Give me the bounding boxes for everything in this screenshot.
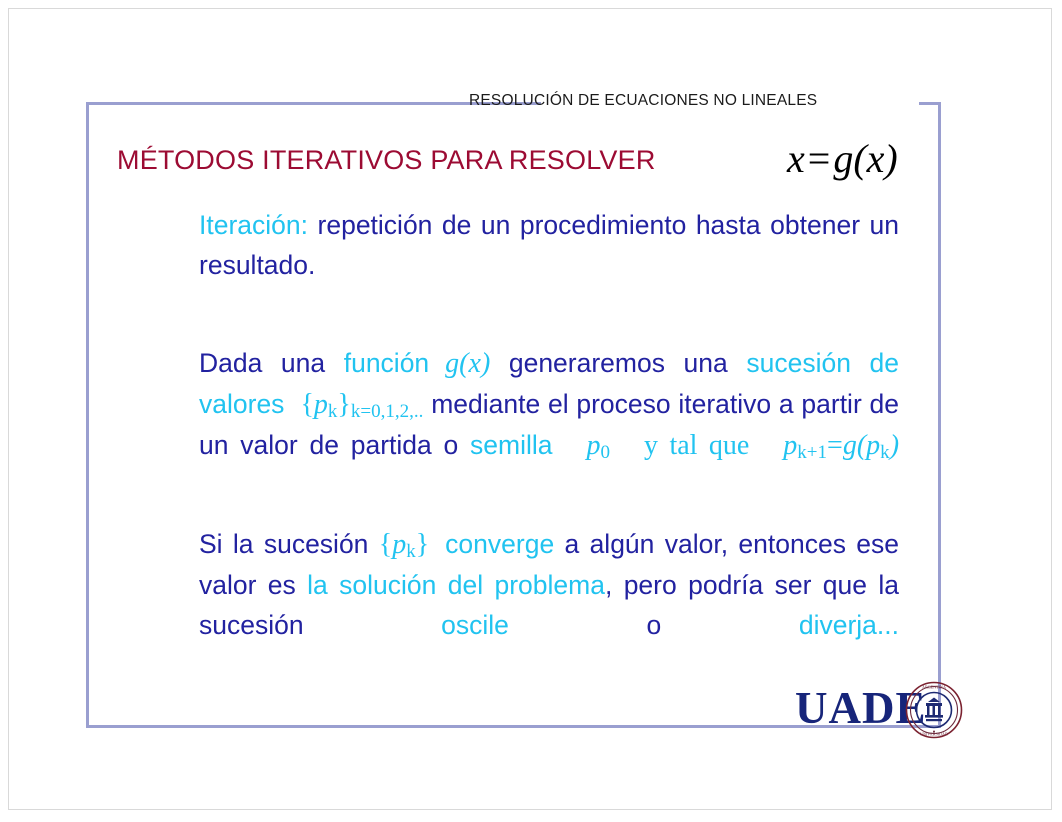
- math-p-zero: p0: [587, 430, 611, 461]
- equation-paren-open: (: [853, 136, 866, 181]
- math-paren-open: (: [459, 348, 468, 379]
- uade-seal-icon: ARGENTINA UNIVERSIDAD: [905, 681, 963, 739]
- math-p: p: [587, 430, 601, 461]
- math-p: p: [314, 389, 328, 420]
- uade-logo: UADE ARGENTINA UNIVERSIDAD: [795, 681, 965, 743]
- title-equation: x=g(x): [787, 135, 898, 182]
- equation-paren-close: ): [884, 136, 897, 181]
- sucesion-lead: Dada una: [199, 348, 344, 378]
- body-content: Iteración: repetición de un procedimient…: [199, 205, 899, 685]
- term-funcion: función: [344, 348, 429, 378]
- math-p: p: [392, 529, 406, 560]
- math-g: g: [843, 430, 857, 461]
- slide-header: RESOLUCIÓN DE ECUACIONES NO LINEALES: [469, 92, 914, 110]
- term-solucion-del-problema: la solución del problema: [307, 570, 605, 600]
- term-diverja: diverja...: [799, 610, 899, 640]
- math-brace-close: }: [416, 529, 429, 560]
- equation-argument: x: [867, 136, 885, 181]
- math-subscript-k: k: [328, 401, 338, 422]
- convergencia-conjunction: o: [509, 610, 799, 640]
- math-subscript-zero: 0: [601, 442, 611, 463]
- math-paren-close: ): [481, 348, 490, 379]
- equation-operator: =: [805, 136, 834, 181]
- convergencia-lead: Si la sucesión: [199, 529, 379, 559]
- math-paren-open: (: [857, 430, 866, 461]
- math-g-of-x: g(x): [445, 348, 490, 379]
- equation-function: g: [833, 136, 853, 181]
- phrase-y-tal-que: y tal que: [644, 430, 749, 461]
- sucesion-mid1: generaremos una: [490, 348, 746, 378]
- math-recurrence: pk+1=g(pk): [783, 430, 899, 461]
- math-subscript-k: k: [880, 442, 890, 463]
- math-brace-close: }: [337, 389, 350, 420]
- math-subscript-k-plus-1: k+1: [797, 442, 827, 463]
- term-converge: converge: [445, 529, 554, 559]
- math-p: p: [783, 430, 797, 461]
- math-brace-open: {: [379, 529, 392, 560]
- title-row: MÉTODOS ITERATIVOS PARA RESOLVER x=g(x): [117, 141, 937, 191]
- svg-text:ARGENTINA: ARGENTINA: [922, 685, 946, 690]
- term-semilla: semilla: [470, 430, 552, 460]
- term-oscile: oscile: [441, 610, 509, 640]
- math-equals: =: [827, 430, 843, 461]
- equation-lhs: x: [787, 136, 805, 181]
- term-iteracion: Iteración:: [199, 210, 308, 240]
- math-g: g: [445, 348, 459, 379]
- math-x: x: [469, 348, 481, 379]
- paragraph-sucesion: Dada una funcióng(x) generaremos una suc…: [199, 343, 899, 506]
- paragraph-iteracion: Iteración: repetición de un procedimient…: [199, 205, 899, 325]
- math-index-range: k=0,1,2,..: [351, 401, 424, 422]
- math-brace-open: {: [300, 389, 313, 420]
- math-sequence-set: {pk}: [379, 529, 429, 560]
- math-subscript-k: k: [406, 541, 416, 562]
- frame-left-edge: [86, 102, 89, 728]
- frame-right-edge: [938, 102, 941, 728]
- paragraph-convergencia: Si la sucesión {pk}converge a algún valo…: [199, 524, 899, 685]
- math-p: p: [866, 430, 880, 461]
- page-title: MÉTODOS ITERATIVOS PARA RESOLVER: [117, 145, 656, 176]
- math-sequence-set-indexed: {pk}k=0,1,2,..: [300, 389, 423, 420]
- math-paren-close: ): [890, 430, 899, 461]
- slide-page: RESOLUCIÓN DE ECUACIONES NO LINEALES MÉT…: [8, 8, 1052, 810]
